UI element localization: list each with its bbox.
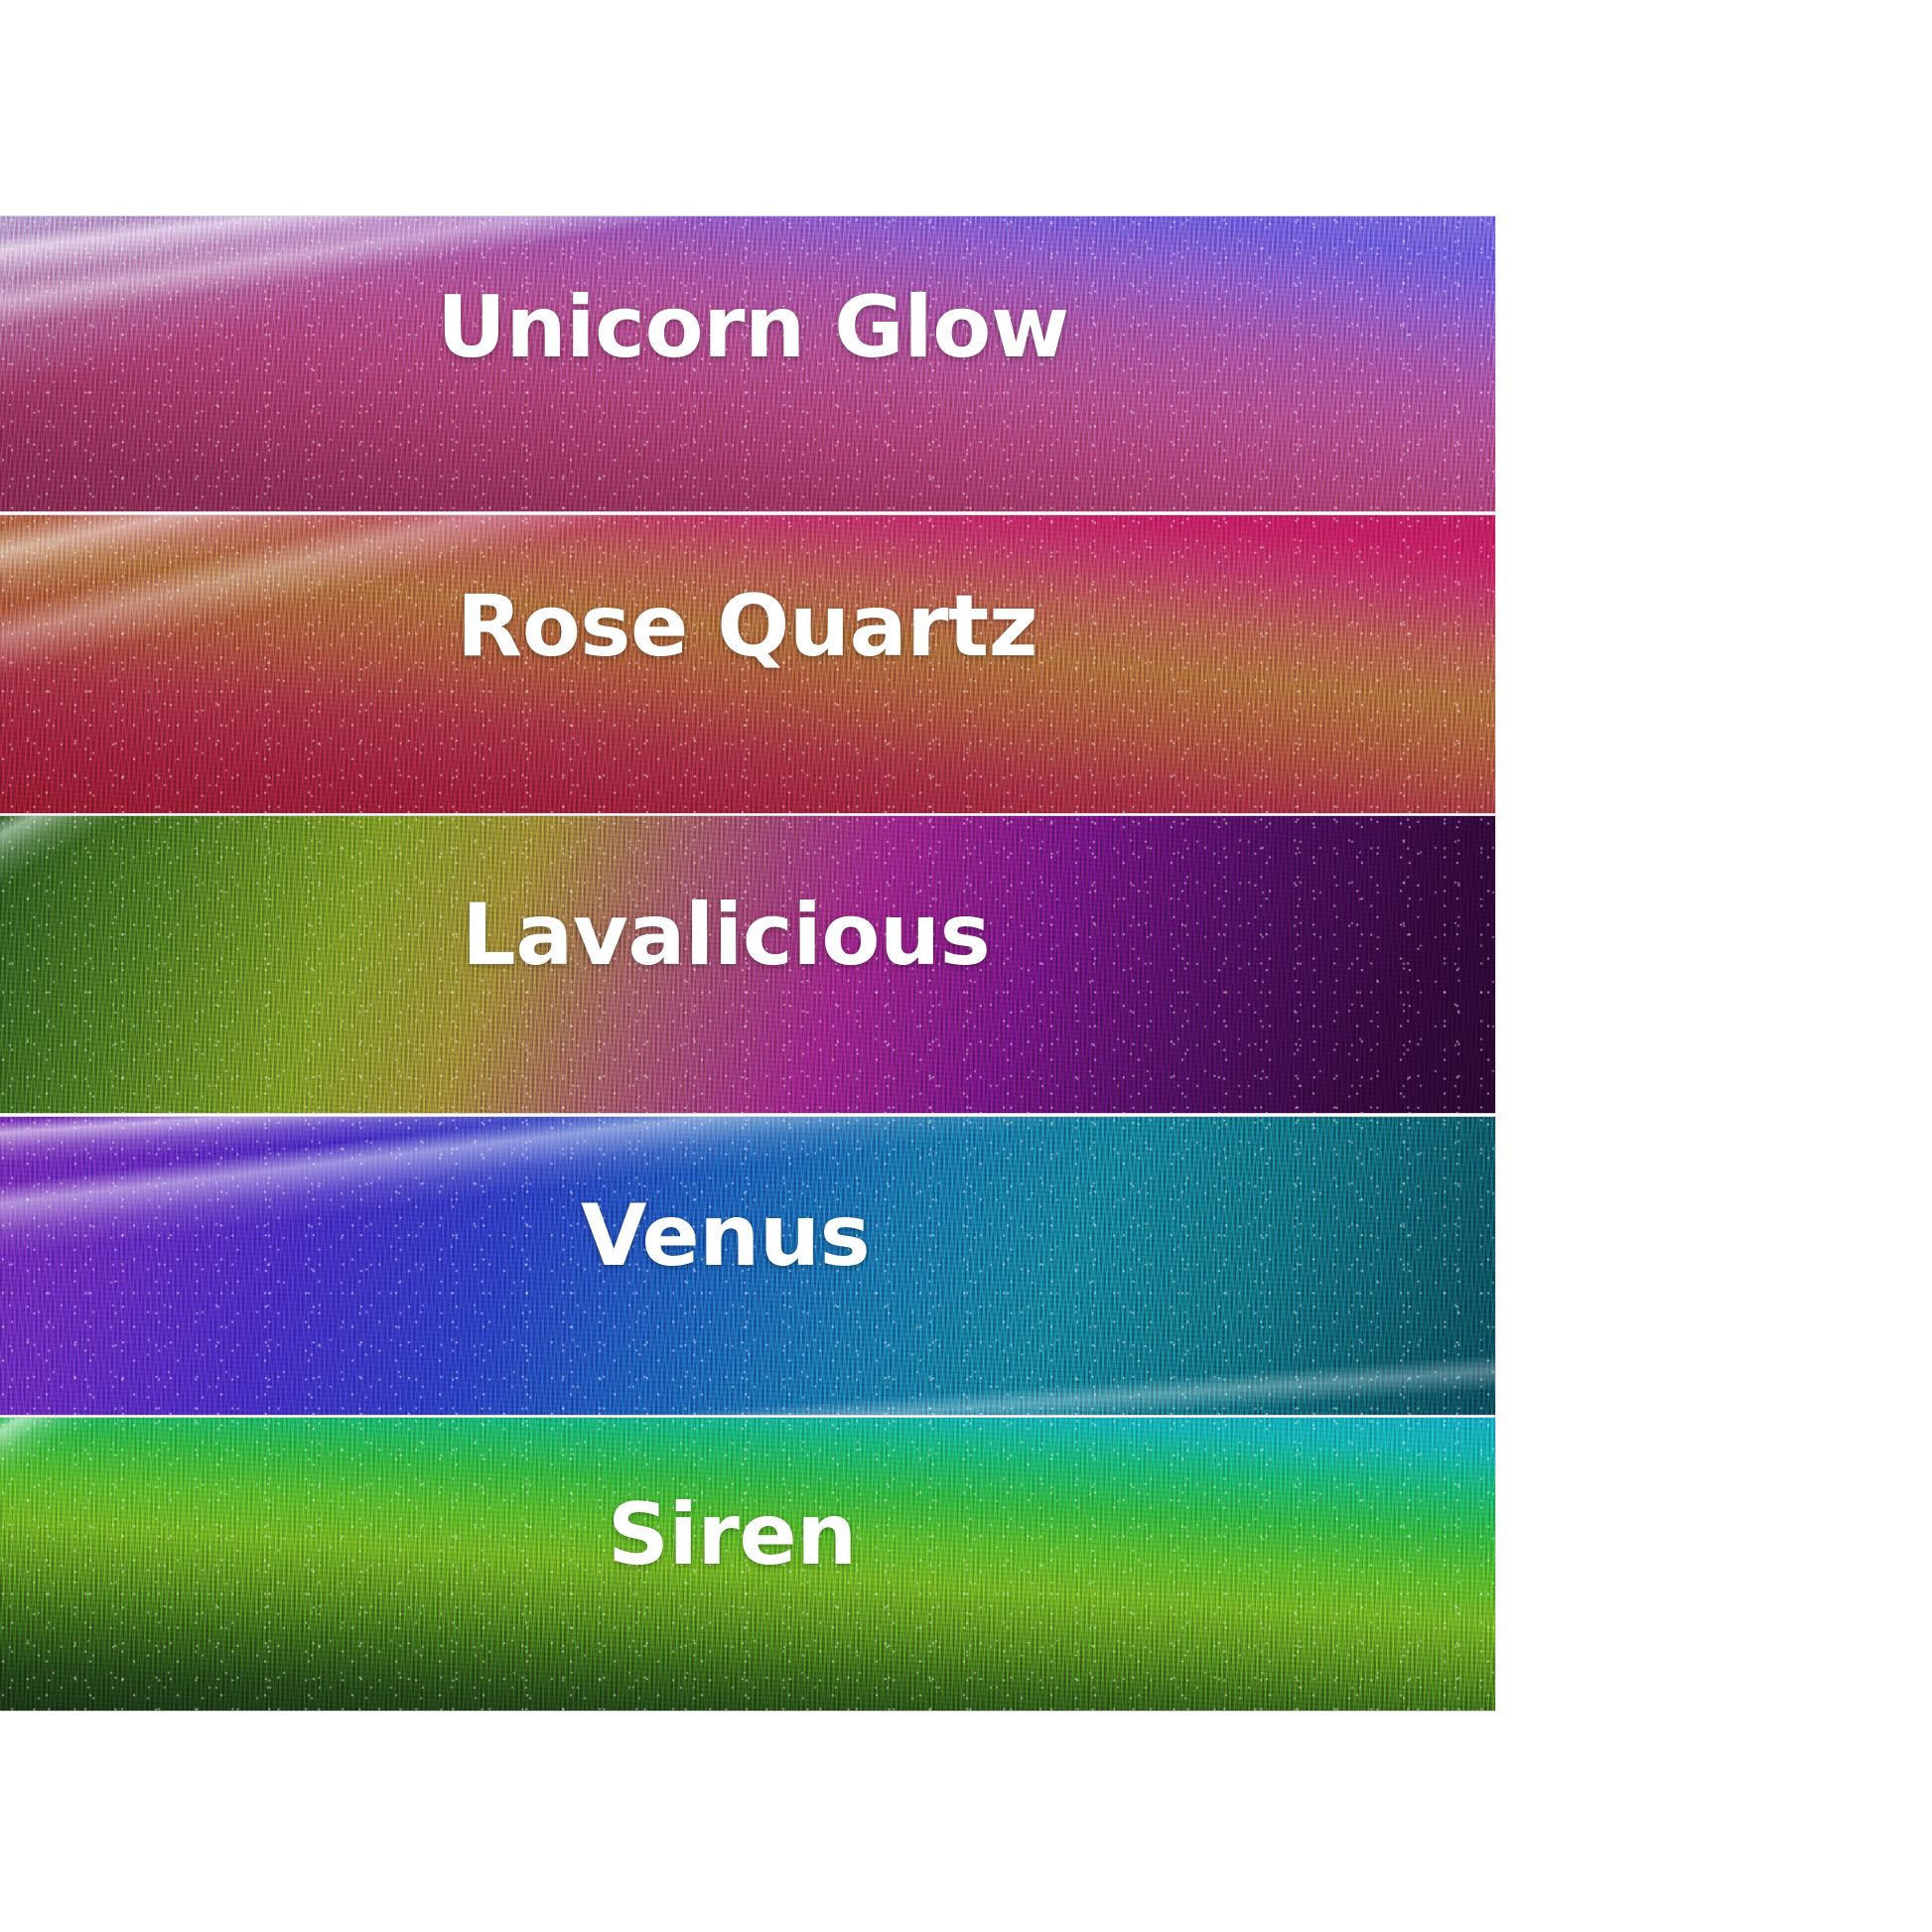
swatch-label-rose-quartz: Rose Quartz [457, 577, 1037, 676]
swatch-label-unicorn-glow: Unicorn Glow [437, 278, 1069, 377]
glitter-swatch-board: Unicorn Glow Rose Quartz Lavalicious Ven… [0, 216, 1495, 1712]
swatch-siren[interactable]: Siren [0, 1418, 1495, 1711]
swatch-label-siren: Siren [608, 1485, 857, 1585]
swatch-venus[interactable]: Venus [0, 1117, 1495, 1415]
swatch-unicorn-glow[interactable]: Unicorn Glow [0, 216, 1495, 511]
swatch-lavalicious[interactable]: Lavalicious [0, 816, 1495, 1113]
swatch-label-lavalicious: Lavalicious [462, 886, 990, 985]
swatch-label-venus: Venus [581, 1186, 870, 1286]
swatch-rose-quartz[interactable]: Rose Quartz [0, 515, 1495, 813]
